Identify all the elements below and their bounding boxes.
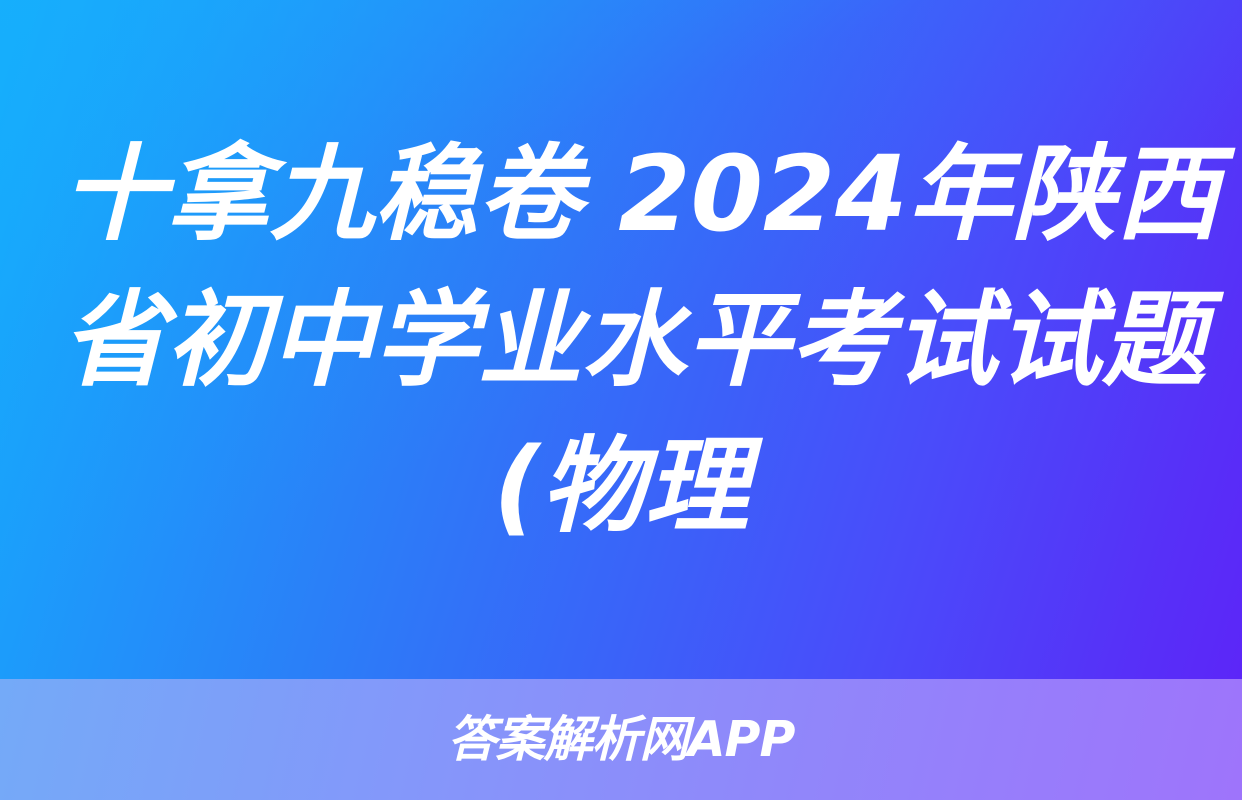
footer-brand-bar: 答案解析网APP [0,679,1242,800]
hero-banner: 十拿九稳卷 2024年陕西 省初中学业水平考试试题 (物理 [0,0,1242,679]
page-title: 十拿九稳卷 2024年陕西 省初中学业水平考试试题 (物理 [62,121,1180,559]
title-line-1: 十拿九稳卷 2024年陕西 [62,121,1180,267]
brand-wordmark: 答案解析网APP [448,715,795,764]
title-line-3: (物理 [62,413,1180,559]
poster-canvas: 十拿九稳卷 2024年陕西 省初中学业水平考试试题 (物理 答案解析网APP [0,0,1242,800]
title-line-2: 省初中学业水平考试试题 [62,267,1180,413]
